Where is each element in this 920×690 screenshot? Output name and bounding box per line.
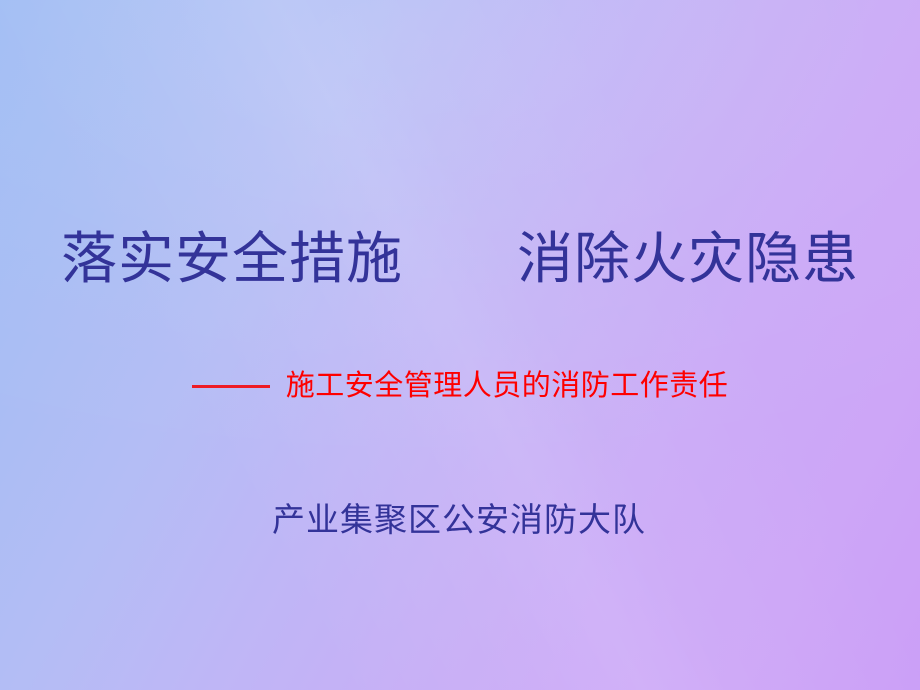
subtitle-row: 施工安全管理人员的消防工作责任 — [192, 366, 729, 406]
attribution-text: 产业集聚区公安消防大队 — [272, 499, 646, 543]
attribution-placeholder[interactable]: 产业集聚区公安消防大队 — [0, 499, 920, 543]
subtitle-text: 施工安全管理人员的消防工作责任 — [286, 366, 729, 406]
presentation-slide: 落实安全措施 消除火灾隐患 施工安全管理人员的消防工作责任 产业集聚区公安消防大… — [0, 0, 920, 690]
em-dash-rule-icon — [192, 385, 270, 388]
title-placeholder[interactable]: 落实安全措施 消除火灾隐患 — [0, 228, 920, 292]
page-title: 落实安全措施 消除火灾隐患 — [61, 228, 859, 292]
slide-content: 落实安全措施 消除火灾隐患 施工安全管理人员的消防工作责任 产业集聚区公安消防大… — [0, 0, 920, 690]
subtitle-placeholder[interactable]: 施工安全管理人员的消防工作责任 — [0, 366, 920, 406]
